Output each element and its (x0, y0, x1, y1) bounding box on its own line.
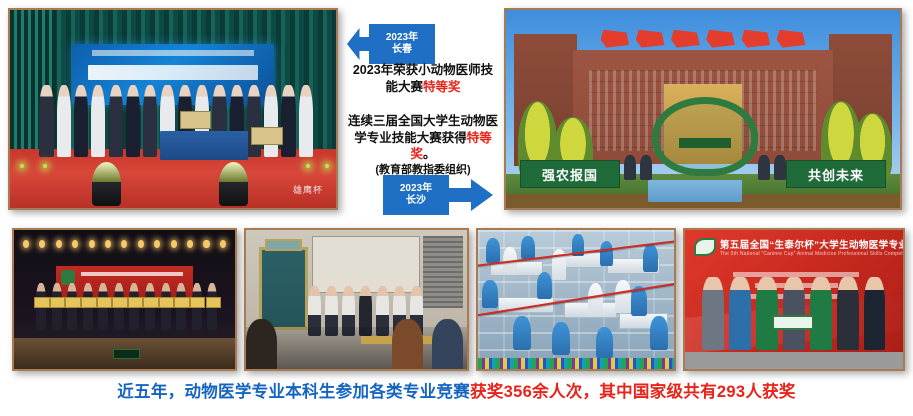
participant-blue-scrubs (486, 238, 500, 263)
led-header-bar (92, 50, 254, 56)
arrow-label-box: 2023年 长春 (369, 24, 435, 64)
participant-blue-scrubs (537, 272, 553, 300)
green-award-sign (772, 315, 813, 330)
award-ceremony-stage-photo: 雄鹰杯 (8, 8, 338, 210)
arrow-label-box: 2023年 长沙 (383, 175, 449, 215)
classroom-award-presentation-photo (244, 228, 469, 371)
arrow-label-year: 2023年 (400, 183, 432, 196)
arrow-label-city: 长春 (392, 44, 412, 57)
person (758, 155, 770, 181)
stage-light (219, 162, 248, 206)
campus-sign-right: 共创未来 (786, 160, 887, 188)
certificate-plaque (251, 127, 282, 145)
banner-title: 第五届全国“生泰尔杯”大学生动物医学专业技能大赛 (720, 237, 894, 251)
participant-blue-scrubs (596, 327, 614, 358)
stage-light (92, 162, 121, 206)
led-slogan-bar (88, 65, 258, 81)
campus-scene: 强农报国 共创未来 (506, 10, 900, 208)
ground-strip (685, 352, 903, 369)
arrow-callout-changchun: 2023年 长春 (347, 24, 475, 64)
participant-blue-scrubs (650, 316, 668, 349)
paragraph-two-suffix: 。 (423, 147, 436, 161)
achievement-paragraph-one: 2023年荣获小动物医师技能大赛特等奖 (347, 62, 499, 95)
team-award-certificate-stage-photo (12, 228, 237, 371)
anniversary-sculpture (652, 97, 758, 176)
red-backdrop-scene: 第五届全国“生泰尔杯”大学生动物医学专业技能大赛 The 5th Nationa… (685, 230, 903, 369)
stage-timer-display (113, 349, 139, 359)
paragraph-one-highlight: 特等奖 (423, 80, 461, 94)
competition-hall-scene (478, 230, 674, 369)
university-banner (160, 131, 248, 161)
participant-blue-scrubs (600, 241, 614, 266)
judge-white-coat (588, 283, 604, 316)
projection-screen (312, 236, 420, 294)
participant-blue-scrubs (513, 316, 531, 349)
hunan-agricultural-university-campus-photo: 强农报国 共创未来 (504, 8, 902, 210)
image-glitch-band (478, 358, 674, 369)
judge-white-coat (615, 280, 631, 313)
lighting-truss (23, 240, 226, 254)
participant-blue-scrubs (521, 236, 535, 260)
competition-logo-icon (694, 238, 716, 256)
banner-subtitle: The 5th National "Caninre Cup" Animal Me… (720, 251, 894, 257)
classroom-door (259, 247, 308, 330)
award-recipients-row (36, 283, 217, 330)
participant-blue-scrubs (482, 280, 498, 308)
national-competition-group-photo: 第五届全国“生泰尔杯”大学生动物医学专业技能大赛 The 5th Nationa… (683, 228, 905, 371)
dark-stage-scene (14, 230, 235, 369)
caption-red-text: 获奖356余人次，其中国家级共有293人获奖 (470, 383, 796, 401)
university-name-characters (601, 30, 806, 48)
classroom-scene (246, 230, 467, 369)
participant-blue-scrubs (552, 322, 570, 355)
caption-blue-text: 近五年，动物医学专业本科生参加各类专业竞赛 (117, 383, 470, 401)
slide-canvas: 雄鹰杯 强农报国 共创未来 (0, 0, 913, 416)
summary-caption: 近五年，动物医学专业本科生参加各类专业竞赛获奖356余人次，其中国家级共有293… (0, 378, 913, 402)
university-flag-banner (648, 180, 743, 202)
center-text-column: 2023年 长春 2023年荣获小动物医师技能大赛特等奖 连续三届全国大学生动物… (347, 10, 499, 215)
campus-sign-left: 强农报国 (520, 160, 621, 188)
seated-person (432, 319, 463, 369)
skills-competition-hall-photo (476, 228, 676, 371)
window-blinds (423, 236, 463, 308)
photo-watermark: 雄鹰杯 (293, 183, 323, 196)
arrow-callout-changsha: 2023年 长沙 (383, 175, 493, 215)
participant-blue-scrubs (643, 244, 659, 272)
person (624, 155, 636, 181)
group-members-row (702, 277, 885, 349)
person (774, 155, 786, 181)
arrow-label-year: 2023年 (386, 32, 418, 45)
achievement-paragraph-two: 连续三届全国大学生动物医学专业技能大赛获得特等奖。 (教育部教指委组织) (347, 113, 499, 177)
seated-person (246, 319, 277, 369)
person (640, 155, 652, 181)
arrow-label-city: 长沙 (406, 195, 426, 208)
seated-person (392, 319, 423, 369)
stage-scene: 雄鹰杯 (10, 10, 336, 208)
arrow-right-icon (447, 179, 493, 211)
certificate-plaque (180, 111, 211, 129)
